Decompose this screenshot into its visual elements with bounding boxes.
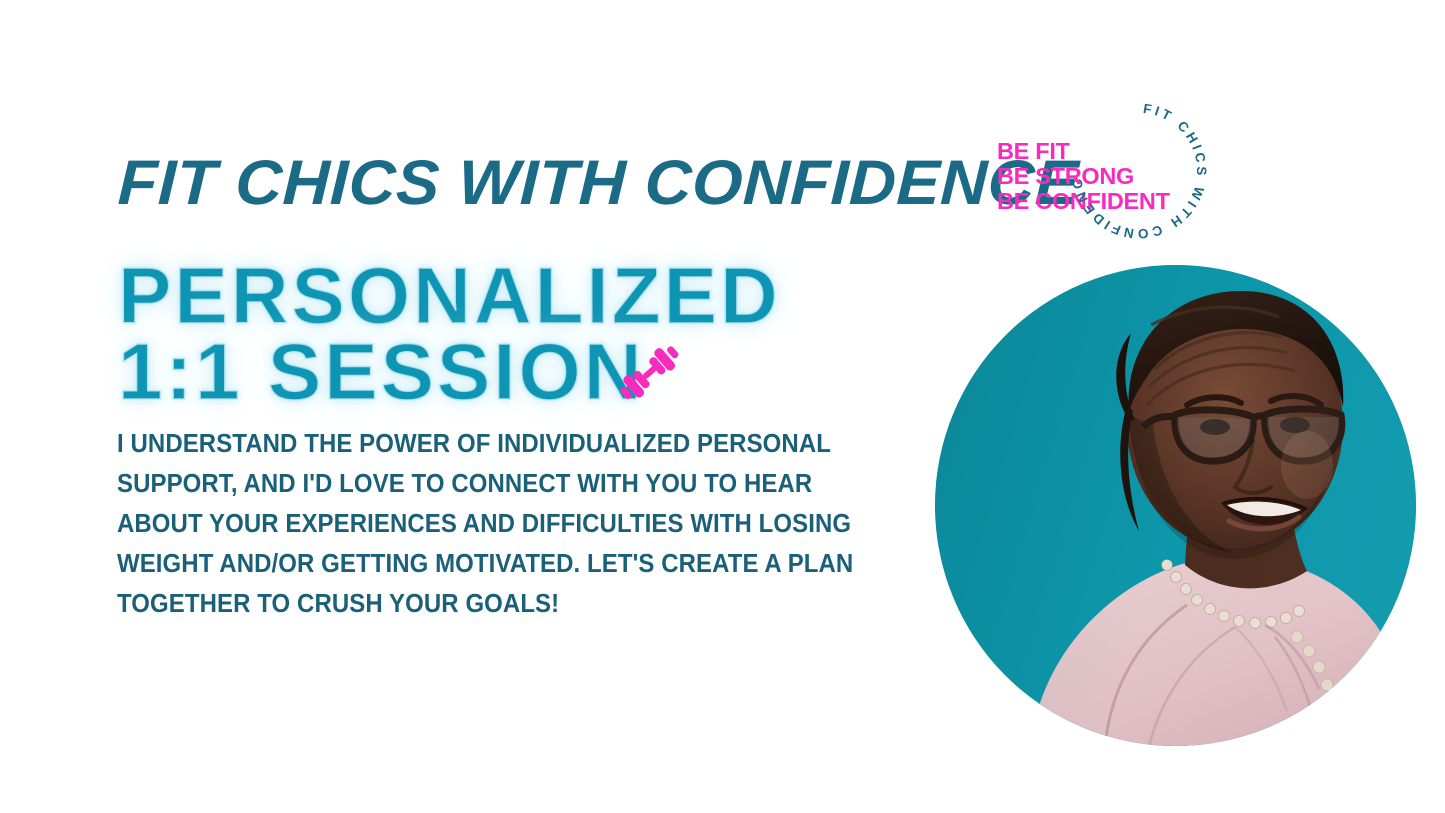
body-line: SUPPORT, AND I'D LOVE TO CONNECT WITH YO…: [117, 464, 803, 504]
brand-logo: BE FIT BE STRONG BE CONFIDENT FIT CHICS …: [975, 95, 1225, 270]
body-line: WEIGHT AND/OR GETTING MOTIVATED. LET'S C…: [117, 544, 803, 584]
portrait-photo: [935, 265, 1416, 746]
headline-line-2: 1:1 SESSION 1:1 SESSION: [118, 334, 818, 410]
headline-line-2-text: 1:1 SESSION: [118, 327, 645, 416]
brand-title: FIT CHICS WITH CONFIDENCE: [117, 152, 1080, 215]
headline-line-1: PERSONALIZED PERSONALIZED: [118, 258, 818, 334]
body-line: I UNDERSTAND THE POWER OF INDIVIDUALIZED…: [117, 424, 803, 464]
headline-block: PERSONALIZED PERSONALIZED 1:1 SESSION 1:…: [118, 258, 818, 410]
dumbbell-icon: [607, 338, 691, 408]
logo-ring-text: FIT CHICS WITH CONFIDENCE: [1065, 97, 1213, 245]
logo-ring-label: FIT CHICS WITH CONFIDENCE: [1065, 97, 1209, 241]
body-copy: I UNDERSTAND THE POWER OF INDIVIDUALIZED…: [117, 424, 847, 624]
body-line: TOGETHER TO CRUSH YOUR GOALS!: [117, 584, 803, 624]
body-line: ABOUT YOUR EXPERIENCES AND DIFFICULTIES …: [117, 504, 803, 544]
